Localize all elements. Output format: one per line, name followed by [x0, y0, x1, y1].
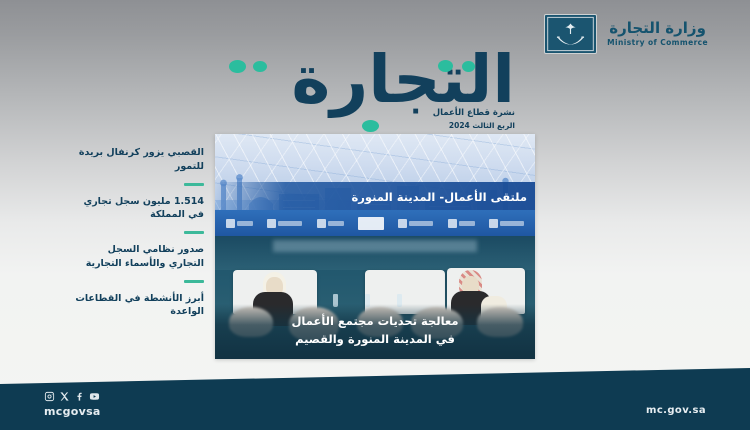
list-item[interactable]: 1.514 مليون سجل تجاري في المملكة	[72, 195, 204, 223]
photo-bottom-caption: معالجة تحديات مجتمع الأعمال في المدينة ا…	[215, 304, 535, 359]
masthead-subtitle-block: نشرة قطاع الأعمال الربع الثالث 2024	[400, 108, 515, 130]
headline-text: 1.514 مليون سجل تجاري في المملكة	[72, 195, 204, 223]
ministry-header: وزارة التجارة Ministry of Commerce	[544, 14, 708, 54]
newsletter-cover: وزارة التجارة Ministry of Commerce التجا…	[0, 0, 750, 430]
photo-top-caption-text: ملتقى الأعمال- المدينة المنورة	[351, 190, 527, 204]
photo-top-caption: ملتقى الأعمال- المدينة المنورة	[215, 182, 535, 210]
ministry-name-arabic: وزارة التجارة	[607, 21, 708, 37]
ministry-logo-text: وزارة التجارة Ministry of Commerce	[607, 21, 708, 47]
accent-dot-icon	[362, 120, 379, 132]
sponsor-logo	[226, 218, 253, 229]
headline-text: القصبي يزور كرنفال بريدة للتمور	[72, 146, 204, 174]
newsletter-subtitle: نشرة قطاع الأعمال	[400, 108, 515, 118]
sponsor-logo	[267, 218, 302, 229]
headline-text: أبرز الأنشطة في القطاعات الواعدة	[72, 292, 204, 320]
accent-dot-icon	[462, 61, 475, 72]
photo-bottom-caption-line1: معالجة تحديات مجتمع الأعمال	[221, 313, 529, 331]
sponsor-logo	[317, 218, 344, 229]
headline-divider	[184, 231, 204, 234]
ministry-name-english: Ministry of Commerce	[607, 39, 708, 47]
instagram-icon[interactable]	[44, 391, 55, 402]
sponsor-logo	[358, 217, 384, 230]
accent-dot-icon	[253, 61, 267, 72]
sponsor-logo	[448, 218, 475, 229]
issue-label: الربع الثالث 2024	[400, 121, 515, 130]
list-item[interactable]: القصبي يزور كرنفال بريدة للتمور	[72, 146, 204, 174]
sponsor-logo-strip	[215, 210, 535, 236]
stage-screen	[273, 240, 478, 252]
headline-text: صدور نظامي السجل التجاري والأسماء التجار…	[72, 243, 204, 271]
headline-divider	[184, 280, 204, 283]
social-icon-row	[44, 391, 101, 402]
list-item[interactable]: صدور نظامي السجل التجاري والأسماء التجار…	[72, 243, 204, 271]
footer-bar: mcgovsa mc.gov.sa	[0, 368, 750, 430]
social-handle[interactable]: mcgovsa	[44, 405, 101, 418]
media-stack: ملتقى الأعمال- المدينة المنورة	[215, 134, 535, 359]
website-url[interactable]: mc.gov.sa	[646, 405, 706, 416]
headline-divider	[184, 183, 204, 186]
headline-list: القصبي يزور كرنفال بريدة للتمور 1.514 مل…	[72, 146, 204, 325]
x-twitter-icon[interactable]	[59, 391, 70, 402]
photo-business-forum-medina: ملتقى الأعمال- المدينة المنورة	[215, 134, 535, 236]
facebook-icon[interactable]	[74, 391, 85, 402]
accent-dot-icon	[229, 60, 246, 73]
page-title: التجارة	[291, 50, 515, 109]
photo-bottom-caption-line2: في المدينة المنورة والقصيم	[221, 331, 529, 349]
masthead: التجارة نشرة قطاع الأعمال الربع الثالث 2…	[215, 44, 515, 139]
saudi-emblem-icon	[544, 14, 597, 54]
photo-panel-discussion: معالجة تحديات مجتمع الأعمال في المدينة ا…	[215, 236, 535, 359]
footer-social-block: mcgovsa	[44, 391, 101, 418]
sponsor-logo	[398, 218, 433, 229]
list-item[interactable]: أبرز الأنشطة في القطاعات الواعدة	[72, 292, 204, 320]
accent-dot-icon	[438, 60, 453, 72]
sponsor-logo	[489, 218, 524, 229]
youtube-icon[interactable]	[89, 391, 100, 402]
